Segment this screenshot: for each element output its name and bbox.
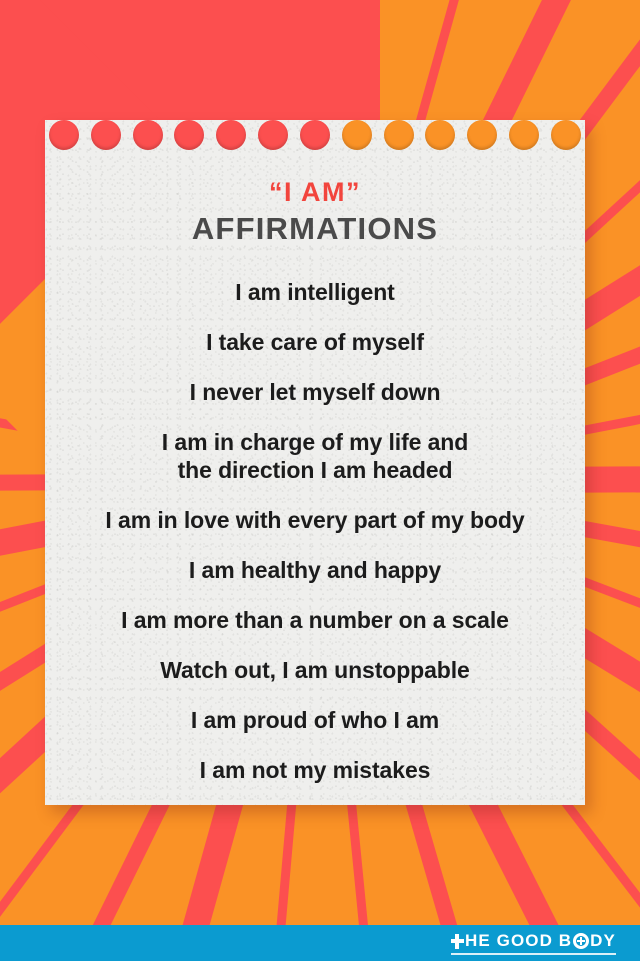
affirmation-line: Watch out, I am unstoppable — [59, 656, 571, 684]
affirmation-line: I am in charge of my life andthe directi… — [59, 428, 571, 484]
affirmations-poster: “I AM” AFFIRMATIONS I am intelligentI ta… — [0, 0, 640, 961]
plus-icon — [451, 934, 464, 949]
affirmation-line: I am intelligent — [59, 278, 571, 306]
footer-bar: HE GOOD B DY — [0, 925, 640, 961]
circle-plus-icon — [573, 933, 589, 949]
brand-logo[interactable]: HE GOOD B DY — [451, 931, 616, 955]
paper-content: “I AM” AFFIRMATIONS I am intelligentI ta… — [45, 120, 585, 805]
affirmation-line: I am healthy and happy — [59, 556, 571, 584]
page-title-quoted: “I AM” — [59, 178, 571, 206]
affirmation-line: I never let myself down — [59, 378, 571, 406]
affirmation-line: I am more than a number on a scale — [59, 606, 571, 634]
brand-text-secondary: DY — [590, 931, 616, 951]
brand-text-primary: HE GOOD B — [465, 931, 572, 951]
affirmation-list: I am intelligentI take care of myselfI n… — [59, 278, 571, 785]
affirmation-line: I am not my mistakes — [59, 756, 571, 784]
affirmation-line: I take care of myself — [59, 328, 571, 356]
notepad-paper: “I AM” AFFIRMATIONS I am intelligentI ta… — [45, 120, 585, 805]
affirmation-line: I am in love with every part of my body — [59, 506, 571, 534]
affirmation-line: I am proud of who I am — [59, 706, 571, 734]
page-title: AFFIRMATIONS — [59, 210, 571, 247]
